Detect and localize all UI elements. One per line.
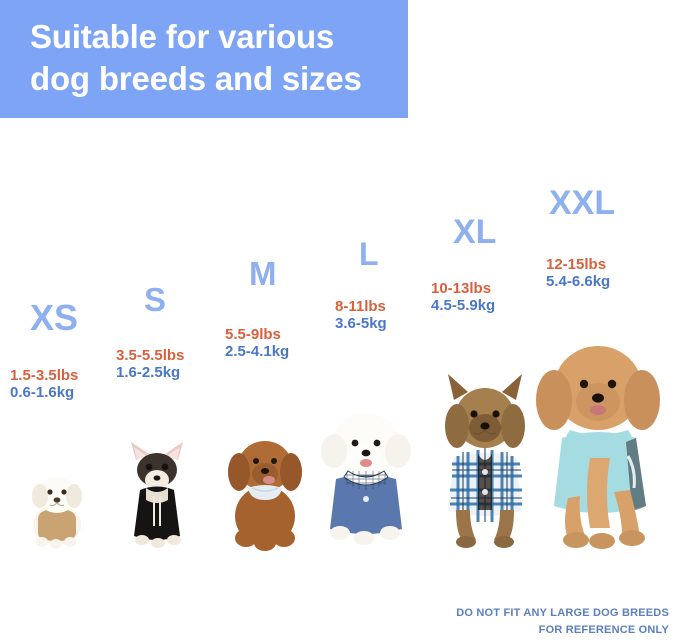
size-weight-kg-xxl: 5.4-6.6kg xyxy=(546,274,610,291)
dog-photo-m xyxy=(222,430,308,550)
size-weight-lbs-l: 8-11lbs xyxy=(335,299,387,316)
dog-photo-xxl xyxy=(528,338,668,550)
size-weight-lbs-m: 5.5-9lbs xyxy=(225,327,289,344)
size-label-m: M xyxy=(249,257,277,290)
size-weights-xs: 1.5-3.5lbs 0.6-1.6kg xyxy=(10,368,78,402)
size-weights-l: 8-11lbs 3.6-5kg xyxy=(335,299,387,333)
dog-photo-xl xyxy=(432,370,538,550)
size-label-s: S xyxy=(144,283,166,316)
size-weights-xxl: 12-15lbs 5.4-6.6kg xyxy=(546,257,610,291)
size-weights-xl: 10-13lbs 4.5-5.9kg xyxy=(431,281,495,315)
size-label-l: L xyxy=(359,238,379,270)
size-weight-lbs-xl: 10-13lbs xyxy=(431,281,495,298)
dog-photo-l xyxy=(314,405,418,551)
size-weights-m: 5.5-9lbs 2.5-4.1kg xyxy=(225,327,289,361)
size-weight-lbs-xxl: 12-15lbs xyxy=(546,257,610,274)
disclaimer-line-1: DO NOT FIT ANY LARGE DOG BREEDS xyxy=(456,605,669,622)
size-weight-lbs-s: 3.5-5.5lbs xyxy=(116,348,184,365)
size-weight-lbs-xs: 1.5-3.5lbs xyxy=(10,368,78,385)
dog-size-chart-page: Suitable for various dog breeds and size… xyxy=(0,0,679,642)
size-weight-kg-s: 1.6-2.5kg xyxy=(116,365,184,382)
size-weights-s: 3.5-5.5lbs 1.6-2.5kg xyxy=(116,348,184,382)
dog-photo-s xyxy=(118,440,196,550)
dog-photo-xs xyxy=(18,467,96,550)
disclaimer-line-2: FOR REFERENCE ONLY xyxy=(456,622,669,639)
size-weight-kg-xl: 4.5-5.9kg xyxy=(431,298,495,315)
disclaimer-text: DO NOT FIT ANY LARGE DOG BREEDS FOR REFE… xyxy=(456,605,669,638)
banner-title: Suitable for various dog breeds and size… xyxy=(30,16,394,100)
size-weight-kg-xs: 0.6-1.6kg xyxy=(10,385,78,402)
size-label-xxl: XXL xyxy=(549,186,615,220)
size-label-xs: XS xyxy=(30,300,78,336)
header-banner: Suitable for various dog breeds and size… xyxy=(0,0,408,118)
size-label-xl: XL xyxy=(453,215,496,249)
size-weight-kg-l: 3.6-5kg xyxy=(335,316,387,333)
size-weight-kg-m: 2.5-4.1kg xyxy=(225,344,289,361)
